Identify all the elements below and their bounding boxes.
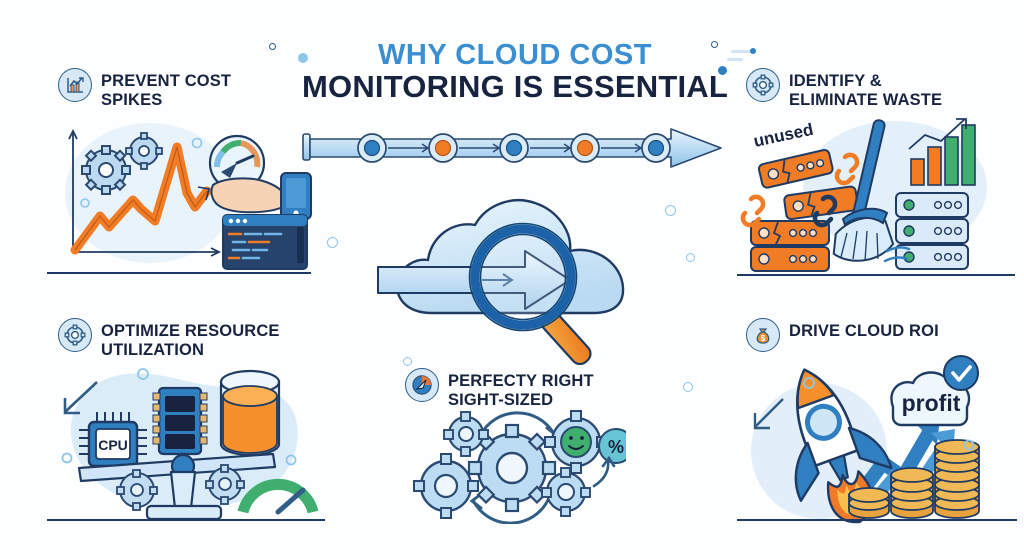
cloud-magnifier-graphic xyxy=(360,185,655,365)
decor-dot-ring xyxy=(683,382,693,392)
decor-dot-ring xyxy=(269,43,276,50)
gear-icon xyxy=(82,146,130,194)
art-perfectly-right-sized: % xyxy=(408,408,626,524)
panel-heading-text: DRIVE CLOUD ROI xyxy=(789,318,939,341)
compass-gauge-icon xyxy=(405,368,439,402)
page-title: WHY CLOUD COST MONITORING IS ESSENTIAL xyxy=(300,40,730,104)
decor-dash xyxy=(727,58,743,61)
code-window xyxy=(223,215,307,269)
profit-badge: profit xyxy=(891,356,978,425)
chart-spike-icon xyxy=(58,68,92,102)
money-bag-icon: $ xyxy=(746,318,780,352)
panel-heading-text: OPTIMIZE RESOURCE UTILIZATION xyxy=(101,318,280,360)
decor-dot-ring xyxy=(686,253,695,262)
panel-heading-text: PREVENT COST SPIKES xyxy=(101,68,231,110)
panel-heading-identify-eliminate-waste[interactable]: IDENTIFY & ELIMINATE WASTE xyxy=(746,68,942,110)
decor-dot-ring xyxy=(327,237,338,248)
unused-label: unused xyxy=(752,120,815,151)
art-prevent-cost-spikes xyxy=(45,115,313,280)
title-line-1: WHY CLOUD COST xyxy=(300,40,730,71)
panel-heading-drive-cloud-roi[interactable]: $ DRIVE CLOUD ROI xyxy=(746,318,939,352)
coin-stack-medium xyxy=(891,468,933,518)
gear-icon xyxy=(746,68,780,102)
percent-badge: % xyxy=(599,429,626,463)
panel-heading-text: PERFECTY RIGHT SIGHT-SIZED xyxy=(448,368,594,410)
art-identify-eliminate-waste: unused xyxy=(735,115,1017,280)
cpu-label: CPU xyxy=(98,437,128,453)
panel-heading-prevent-cost-spikes[interactable]: PREVENT COST SPIKES xyxy=(58,68,231,110)
decor-dot xyxy=(718,66,727,75)
profit-label: profit xyxy=(902,390,961,416)
gear-icon xyxy=(542,468,590,516)
infographic-canvas: WHY CLOUD COST MONITORING IS ESSENTIAL xyxy=(0,0,1024,559)
percent-label: % xyxy=(608,437,624,457)
magnifier-lens xyxy=(475,229,571,325)
svg-text:$: $ xyxy=(761,334,766,343)
hand-holding-gauge xyxy=(210,136,311,219)
gear-icon xyxy=(58,318,92,352)
decor-dot-ring xyxy=(711,41,718,48)
title-line-2: MONITORING IS ESSENTIAL xyxy=(300,71,730,104)
panel-heading-optimize-resource-utilization[interactable]: OPTIMIZE RESOURCE UTILIZATION xyxy=(58,318,280,360)
art-optimize-resource-utilization: CPU xyxy=(45,360,327,532)
panel-heading-perfectly-right-sized[interactable]: PERFECTY RIGHT SIGHT-SIZED xyxy=(405,368,594,410)
gear-icon xyxy=(444,412,488,456)
storage-cylinder xyxy=(221,371,279,455)
decor-dot xyxy=(298,53,308,63)
decor-dot xyxy=(750,48,756,54)
server-stack-active xyxy=(896,193,968,269)
process-timeline-arrow xyxy=(300,125,724,171)
coin-stack-large xyxy=(935,440,979,518)
performance-gauge xyxy=(243,484,313,512)
coin-stack-small xyxy=(849,488,889,518)
decor-dot-ring xyxy=(665,205,676,216)
panel-heading-text: IDENTIFY & ELIMINATE WASTE xyxy=(789,68,942,110)
ram-module xyxy=(153,388,207,454)
art-drive-cloud-roi: profit xyxy=(735,355,1019,533)
